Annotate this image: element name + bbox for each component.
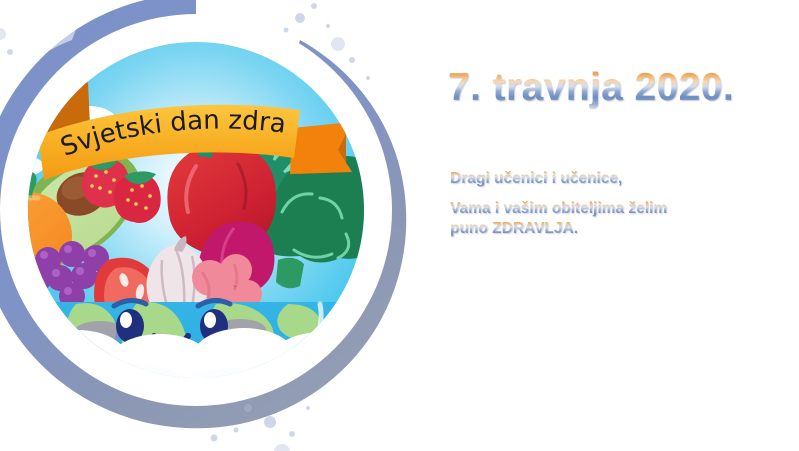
slide-canvas: Svjetski dan zdravlja 7. travnja 2020. D… [0,0,799,451]
message-line-2: puno ZDRAVLJA. [450,219,578,239]
greeting-line: Dragi učenici i učenice, [450,169,622,189]
message-line-1: Vama i vašim obiteljima želim [450,199,667,219]
world-health-day-illustration: Svjetski dan zdravlja [0,0,440,451]
page-title: 7. travnja 2020. [448,68,734,109]
text-column: 7. travnja 2020. Dragi učenici i učenice… [448,0,788,451]
